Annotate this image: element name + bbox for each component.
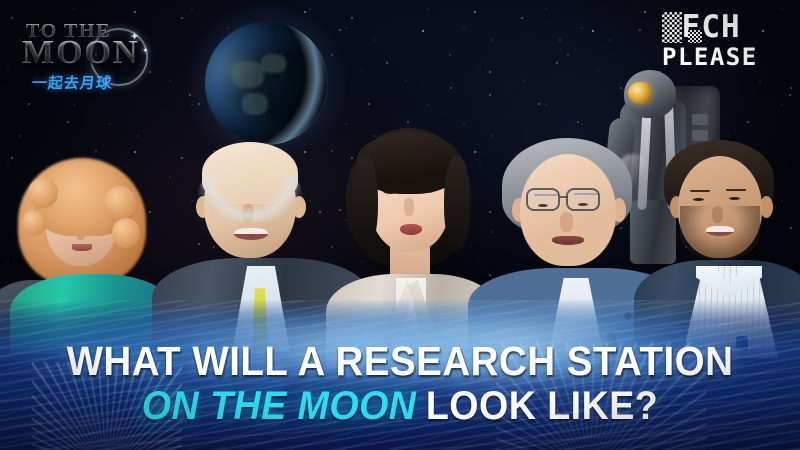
tech-please-logo[interactable]: TECH PLEASE bbox=[662, 12, 778, 74]
video-thumbnail: ✦ ✦ TO THE MOON 一起去月球 TECH PLEASE WHAT W… bbox=[0, 0, 800, 450]
logo-line-moon: MOON bbox=[22, 34, 140, 72]
title-line-2: ON THE MOONLOOK LIKE? bbox=[24, 386, 776, 426]
eyeglasses-bridge bbox=[560, 196, 568, 198]
eyeglasses-lens bbox=[566, 188, 600, 211]
sparkle-icon: ✦ bbox=[142, 46, 149, 55]
lips bbox=[400, 224, 422, 235]
to-the-moon-logo[interactable]: ✦ ✦ TO THE MOON 一起去月球 bbox=[14, 12, 154, 94]
hair-fringe bbox=[198, 164, 302, 222]
logo-text-please: PLEASE bbox=[662, 45, 778, 69]
logo-subtitle-chinese: 一起去月球 bbox=[31, 72, 113, 93]
title-highlight: ON THE MOON bbox=[142, 384, 417, 428]
glitch-pattern-icon bbox=[662, 12, 682, 43]
title-line-1: WHAT WILL A RESEARCH STATION bbox=[24, 341, 776, 382]
mouth bbox=[706, 226, 734, 236]
thumbnail-title: WHAT WILL A RESEARCH STATION ON THE MOON… bbox=[0, 341, 800, 426]
glitch-pattern-icon bbox=[688, 30, 702, 43]
hair-side bbox=[444, 156, 470, 250]
hair-side bbox=[352, 156, 378, 250]
mouth bbox=[552, 236, 584, 245]
title-tail: LOOK LIKE? bbox=[426, 384, 658, 428]
eyeglasses-lens bbox=[526, 188, 560, 211]
